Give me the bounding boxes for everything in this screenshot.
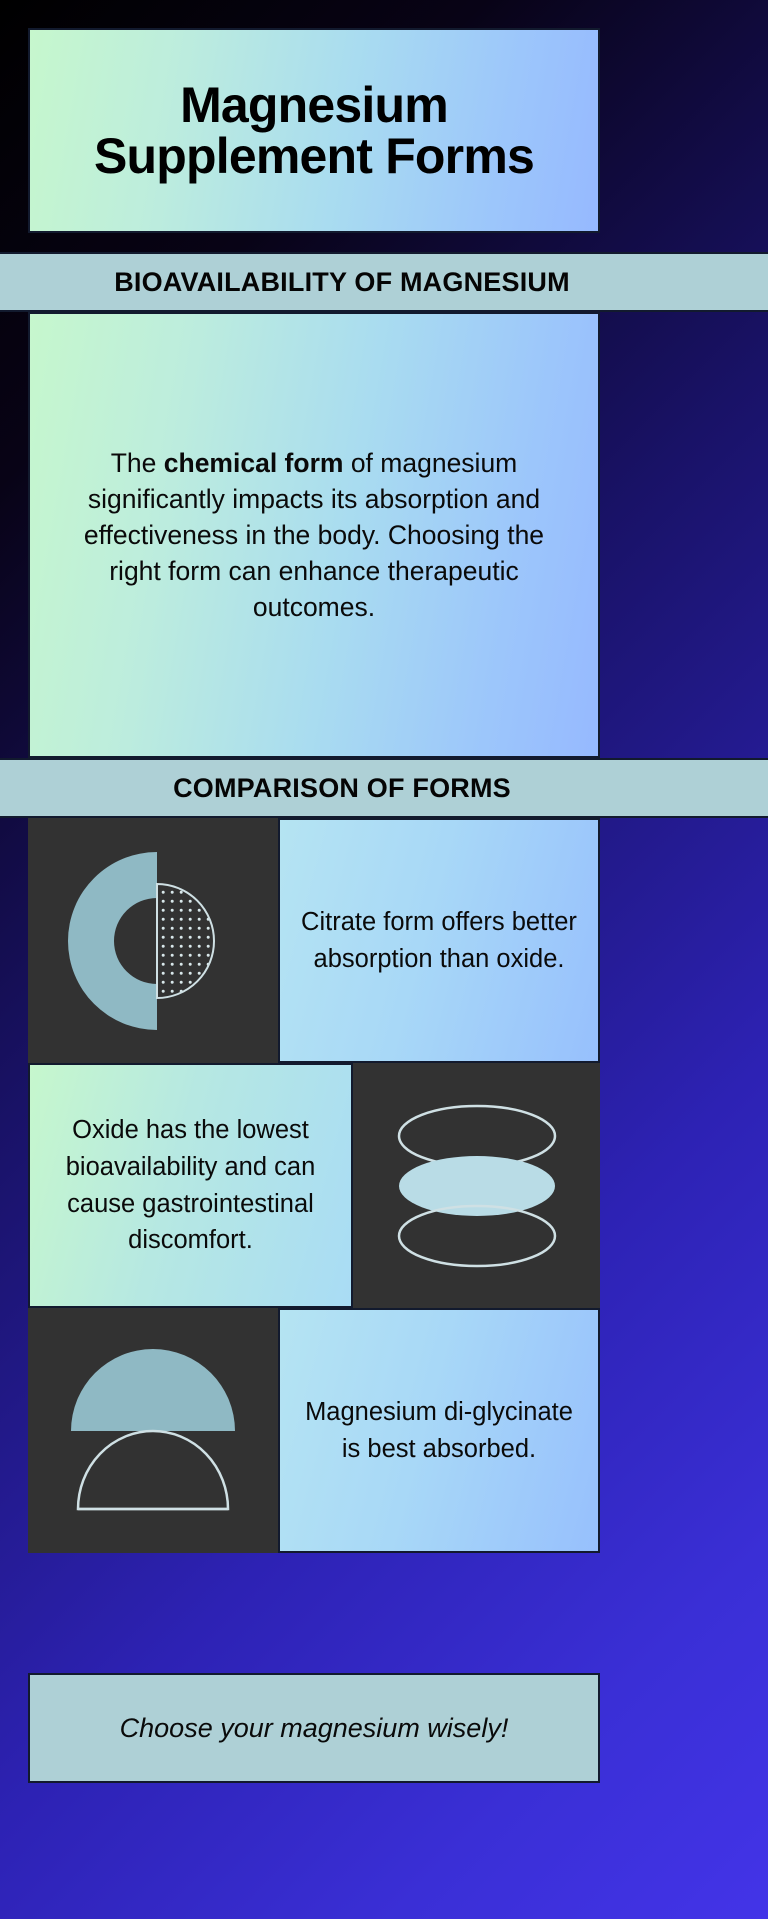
title-line-2: Supplement Forms xyxy=(94,128,534,184)
title-panel: MagnesiumSupplement Forms xyxy=(28,28,600,233)
comparison-card: Oxide has the lowest bioavailability and… xyxy=(28,1063,600,1308)
stacked-domes-icon xyxy=(28,1308,278,1553)
stacked-ellipses-icon xyxy=(353,1063,600,1308)
card-text-panel: Oxide has the lowest bioavailability and… xyxy=(28,1063,353,1308)
title-line-1: Magnesium xyxy=(180,77,448,133)
intro-lead: The xyxy=(111,448,164,478)
footer-panel: Choose your magnesium wisely! xyxy=(28,1673,600,1783)
section-band-label: BIOAVAILABILITY OF MAGNESIUM xyxy=(114,267,570,298)
comparison-card: Citrate form offers better absorption th… xyxy=(28,818,600,1063)
intro-paragraph: The chemical form of magnesium significa… xyxy=(30,445,598,625)
card-text-panel: Citrate form offers better absorption th… xyxy=(278,818,600,1063)
intro-emphasis: chemical form xyxy=(164,448,344,478)
card-text: Citrate form offers better absorption th… xyxy=(280,904,598,978)
section-band-comparison: COMPARISON OF FORMS xyxy=(0,758,768,818)
card-text: Oxide has the lowest bioavailability and… xyxy=(30,1112,351,1260)
footer-text: Choose your magnesium wisely! xyxy=(120,1713,509,1744)
infographic-root: MagnesiumSupplement Forms BIOAVAILABILIT… xyxy=(0,0,768,1919)
card-text-panel: Magnesium di-glycinate is best absorbed. xyxy=(278,1308,600,1553)
section-band-label: COMPARISON OF FORMS xyxy=(173,773,511,804)
comparison-card: Magnesium di-glycinate is best absorbed. xyxy=(28,1308,600,1553)
page-title: MagnesiumSupplement Forms xyxy=(76,80,552,182)
half-donut-dotted-circle-icon xyxy=(28,818,278,1063)
section-band-bioavailability: BIOAVAILABILITY OF MAGNESIUM xyxy=(0,252,768,312)
intro-panel: The chemical form of magnesium significa… xyxy=(28,312,600,758)
card-text: Magnesium di-glycinate is best absorbed. xyxy=(280,1394,598,1468)
